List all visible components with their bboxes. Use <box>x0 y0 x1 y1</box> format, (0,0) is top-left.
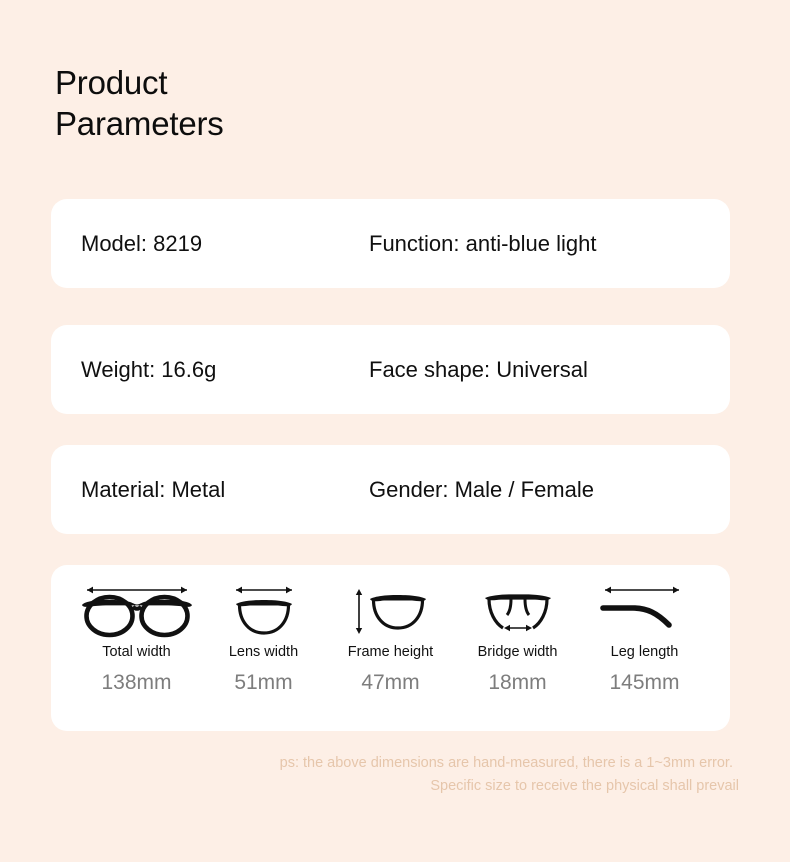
dimension-value: 47mm <box>361 671 419 695</box>
spec-function-label: Function: anti-blue light <box>369 231 730 257</box>
dimension-item-total-width: Total width 138mm <box>73 579 200 695</box>
dimension-label: Total width <box>102 643 171 661</box>
spec-material-label: Material: Metal <box>81 477 361 503</box>
spec-card-material: Material: Metal Gender: Male / Female <box>51 445 730 534</box>
spec-cell-right: Function: anti-blue light <box>361 231 730 257</box>
spec-cell-left: Weight: 16.6g <box>51 357 361 383</box>
spec-card-weight: Weight: 16.6g Face shape: Universal <box>51 325 730 414</box>
dimension-value: 51mm <box>234 671 292 695</box>
dimension-value: 145mm <box>609 671 679 695</box>
dimensions-card: Total width 138mm Lens width 51mm <box>51 565 730 731</box>
product-parameters-page: Product Parameters Model: 8219 Function:… <box>0 0 790 862</box>
dimension-item-leg-length: Leg length 145mm <box>581 579 708 695</box>
dimension-label: Lens width <box>229 643 298 661</box>
spec-gender-label: Gender: Male / Female <box>369 477 730 503</box>
spec-cell-left: Model: 8219 <box>51 231 361 257</box>
spec-weight-label: Weight: 16.6g <box>81 357 361 383</box>
dimension-item-lens-width: Lens width 51mm <box>200 579 327 695</box>
page-title: Product Parameters <box>55 62 224 144</box>
frame-height-icon <box>348 579 434 641</box>
dimension-label: Bridge width <box>478 643 558 661</box>
glasses-full-width-icon <box>78 579 196 641</box>
dimension-value: 138mm <box>101 671 171 695</box>
page-title-line-2: Parameters <box>55 103 224 144</box>
footnote-line-2: Specific size to receive the physical sh… <box>51 775 739 798</box>
dimension-item-frame-height: Frame height 47mm <box>327 579 454 695</box>
dimension-label: Leg length <box>611 643 679 661</box>
lens-width-icon <box>224 579 304 641</box>
dimension-value: 18mm <box>488 671 546 695</box>
bridge-width-icon <box>481 579 555 641</box>
dimension-item-bridge-width: Bridge width 18mm <box>454 579 581 695</box>
page-title-line-1: Product <box>55 62 224 103</box>
spec-cell-left: Material: Metal <box>51 477 361 503</box>
spec-cell-right: Gender: Male / Female <box>361 477 730 503</box>
spec-face-shape-label: Face shape: Universal <box>369 357 730 383</box>
dimension-label: Frame height <box>348 643 433 661</box>
footnote-line-1: ps: the above dimensions are hand-measur… <box>51 752 739 775</box>
temple-leg-length-icon <box>597 579 693 641</box>
footnote: ps: the above dimensions are hand-measur… <box>51 752 739 798</box>
spec-model-label: Model: 8219 <box>81 231 361 257</box>
spec-cell-right: Face shape: Universal <box>361 357 730 383</box>
spec-card-model: Model: 8219 Function: anti-blue light <box>51 199 730 288</box>
